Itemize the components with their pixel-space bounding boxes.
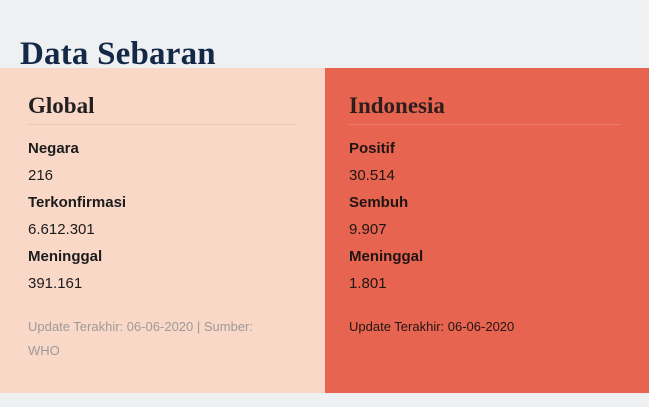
stat-label-meninggal: Meninggal [349,243,621,270]
indonesia-panel-divider [349,124,621,125]
stat-value-sembuh: 9.907 [349,216,621,243]
indonesia-stats-panel: Indonesia Positif 30.514 Sembuh 9.907 Me… [325,68,649,393]
stat-value-meninggal: 391.161 [28,270,297,297]
stat-item: Positif 30.514 [349,135,621,189]
stat-label-terkonfirmasi: Terkonfirmasi [28,189,297,216]
stat-item: Terkonfirmasi 6.612.301 [28,189,297,243]
stats-panel-group: Global Negara 216 Terkonfirmasi 6.612.30… [0,68,649,393]
stat-label-sembuh: Sembuh [349,189,621,216]
stat-value-terkonfirmasi: 6.612.301 [28,216,297,243]
global-panel-heading: Global [28,92,297,120]
data-sebaran-page: Data Sebaran Global Negara 216 Terkonfir… [0,0,649,407]
indonesia-panel-footer: Update Terakhir: 06-06-2020 [349,315,621,339]
stat-value-positif: 30.514 [349,162,621,189]
stat-item: Meninggal 391.161 [28,243,297,297]
stat-value-meninggal: 1.801 [349,270,621,297]
stat-label-negara: Negara [28,135,297,162]
stat-label-meninggal: Meninggal [28,243,297,270]
stat-item: Meninggal 1.801 [349,243,621,297]
indonesia-stat-list: Positif 30.514 Sembuh 9.907 Meninggal 1.… [349,135,621,297]
global-stats-panel: Global Negara 216 Terkonfirmasi 6.612.30… [0,68,325,393]
stat-item: Negara 216 [28,135,297,189]
global-panel-divider [28,124,297,125]
global-stat-list: Negara 216 Terkonfirmasi 6.612.301 Menin… [28,135,297,297]
stat-label-positif: Positif [349,135,621,162]
stat-item: Sembuh 9.907 [349,189,621,243]
indonesia-panel-heading: Indonesia [349,92,621,120]
global-panel-footer: Update Terakhir: 06-06-2020 | Sumber: WH… [28,315,288,363]
stat-value-negara: 216 [28,162,297,189]
